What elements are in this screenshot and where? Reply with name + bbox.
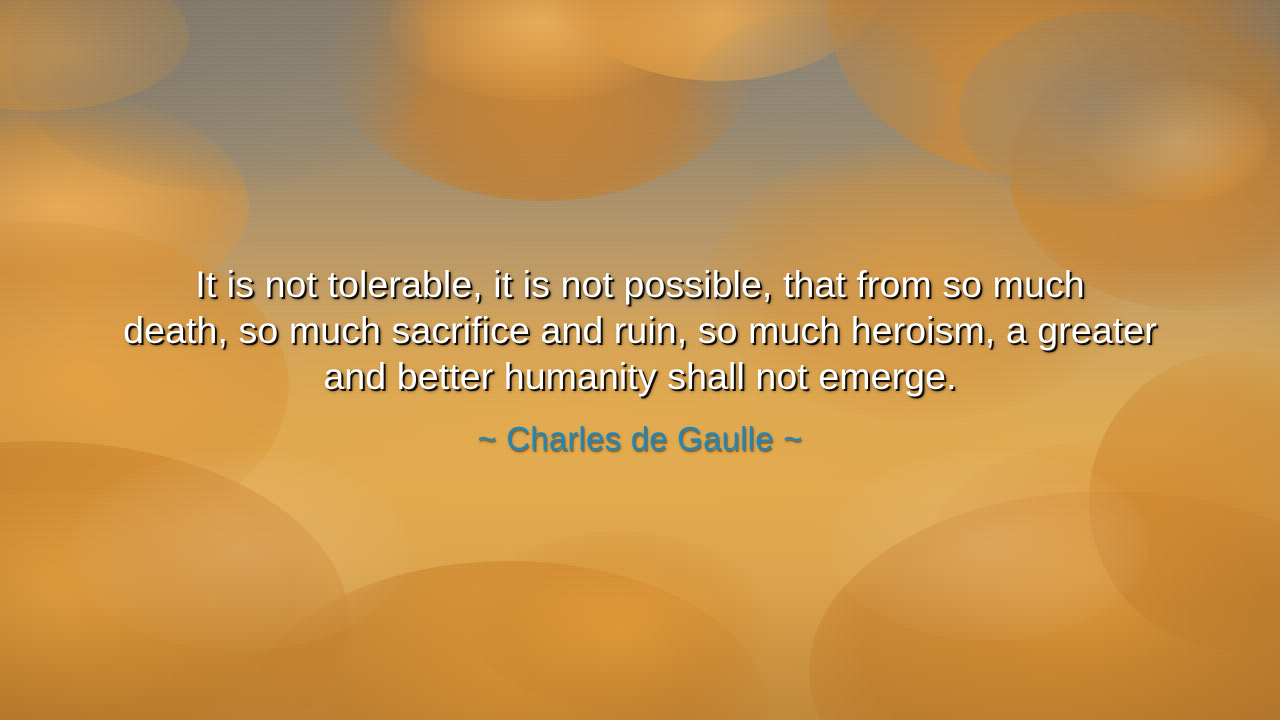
- text-overlay: It is not tolerable, it is not possible,…: [0, 0, 1280, 720]
- quote-line-1: It is not tolerable, it is not possible,…: [82, 261, 1198, 307]
- quote-line-2: death, so much sacrifice and ruin, so mu…: [82, 307, 1198, 353]
- quote-attribution: ~ Charles de Gaulle ~: [82, 419, 1198, 459]
- quote-image: It is not tolerable, it is not possible,…: [0, 0, 1280, 720]
- quote-line-3: and better humanity shall not emerge.: [82, 353, 1198, 399]
- quote-block: It is not tolerable, it is not possible,…: [82, 261, 1198, 459]
